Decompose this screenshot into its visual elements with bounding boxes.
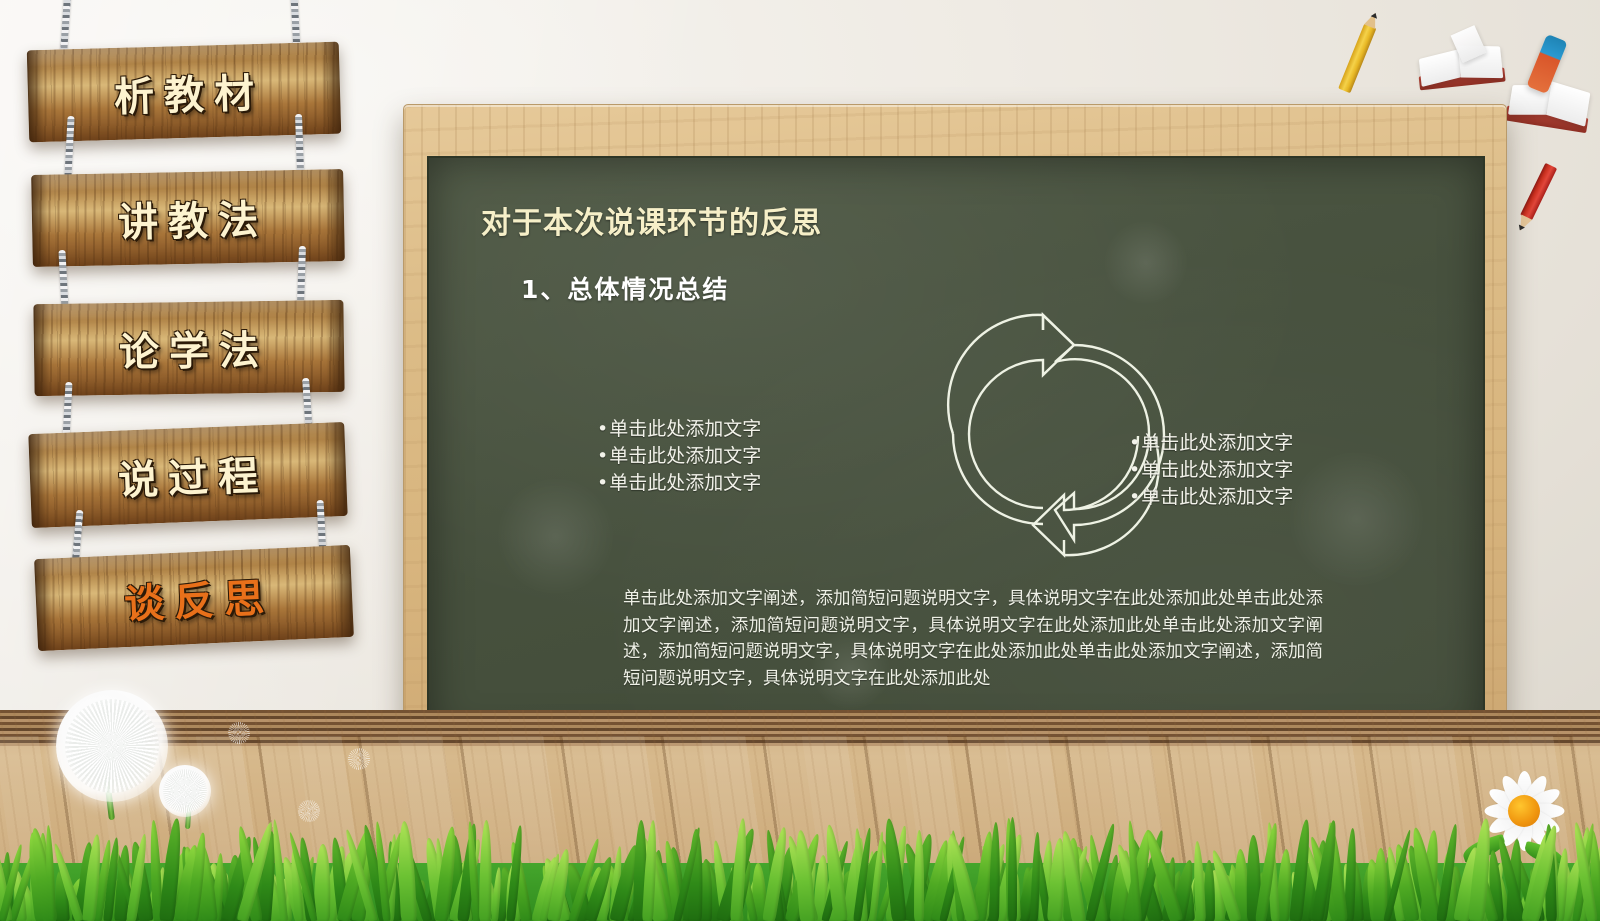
yellow-pencil-icon [1336, 10, 1383, 96]
chain-icon [60, 0, 71, 56]
open-book-icon [1416, 40, 1507, 97]
sign-item-2[interactable]: 论学法 [33, 300, 344, 396]
body-paragraph: 单击此处添加文字阐述，添加简短问题说明文字，具体说明文字在此处添加此处单击此处添… [623, 586, 1323, 692]
list-item: 单击此处添加文字 [1129, 430, 1293, 457]
bullet-list-right: 单击此处添加文字 单击此处添加文字 单击此处添加文字 [1129, 430, 1293, 511]
sign-label: 析教材 [103, 61, 265, 123]
sign-label: 讲教法 [107, 187, 268, 248]
grass-blade [1008, 817, 1017, 921]
page-title: 对于本次说课环节的反思 [481, 198, 822, 242]
list-item: 单击此处添加文字 [1129, 484, 1293, 511]
chain-icon [297, 246, 306, 304]
grass-strip [0, 809, 1600, 921]
sign-label-active: 谈反思 [113, 565, 275, 630]
slide-canvas: 析教材 讲教法 论学法 说过程 谈反思 对于本次说课环节的反思 1、总体情况总结 [0, 0, 1600, 921]
bullet-list-left: 单击此处添加文字 单击此处添加文字 单击此处添加文字 [597, 416, 761, 497]
sign-label: 论学法 [109, 318, 270, 378]
grass-blade [314, 844, 331, 921]
list-item: 单击此处添加文字 [597, 470, 761, 497]
hanging-signs-nav: 析教材 讲教法 论学法 说过程 谈反思 [0, 0, 400, 680]
list-item: 单击此处添加文字 [597, 416, 761, 443]
list-item: 单击此处添加文字 [1129, 457, 1293, 484]
grass-blade [479, 820, 492, 921]
grass-blade [397, 821, 418, 921]
blackboard-frame: 对于本次说课环节的反思 1、总体情况总结 [403, 104, 1507, 792]
blackboard-surface: 对于本次说课环节的反思 1、总体情况总结 [427, 156, 1485, 742]
sign-item-4[interactable]: 谈反思 [34, 545, 354, 651]
dandelion-puff-large-icon [52, 690, 172, 820]
section-heading: 1、总体情况总结 [521, 270, 729, 306]
list-item: 单击此处添加文字 [597, 443, 761, 470]
sign-label: 说过程 [107, 443, 269, 507]
